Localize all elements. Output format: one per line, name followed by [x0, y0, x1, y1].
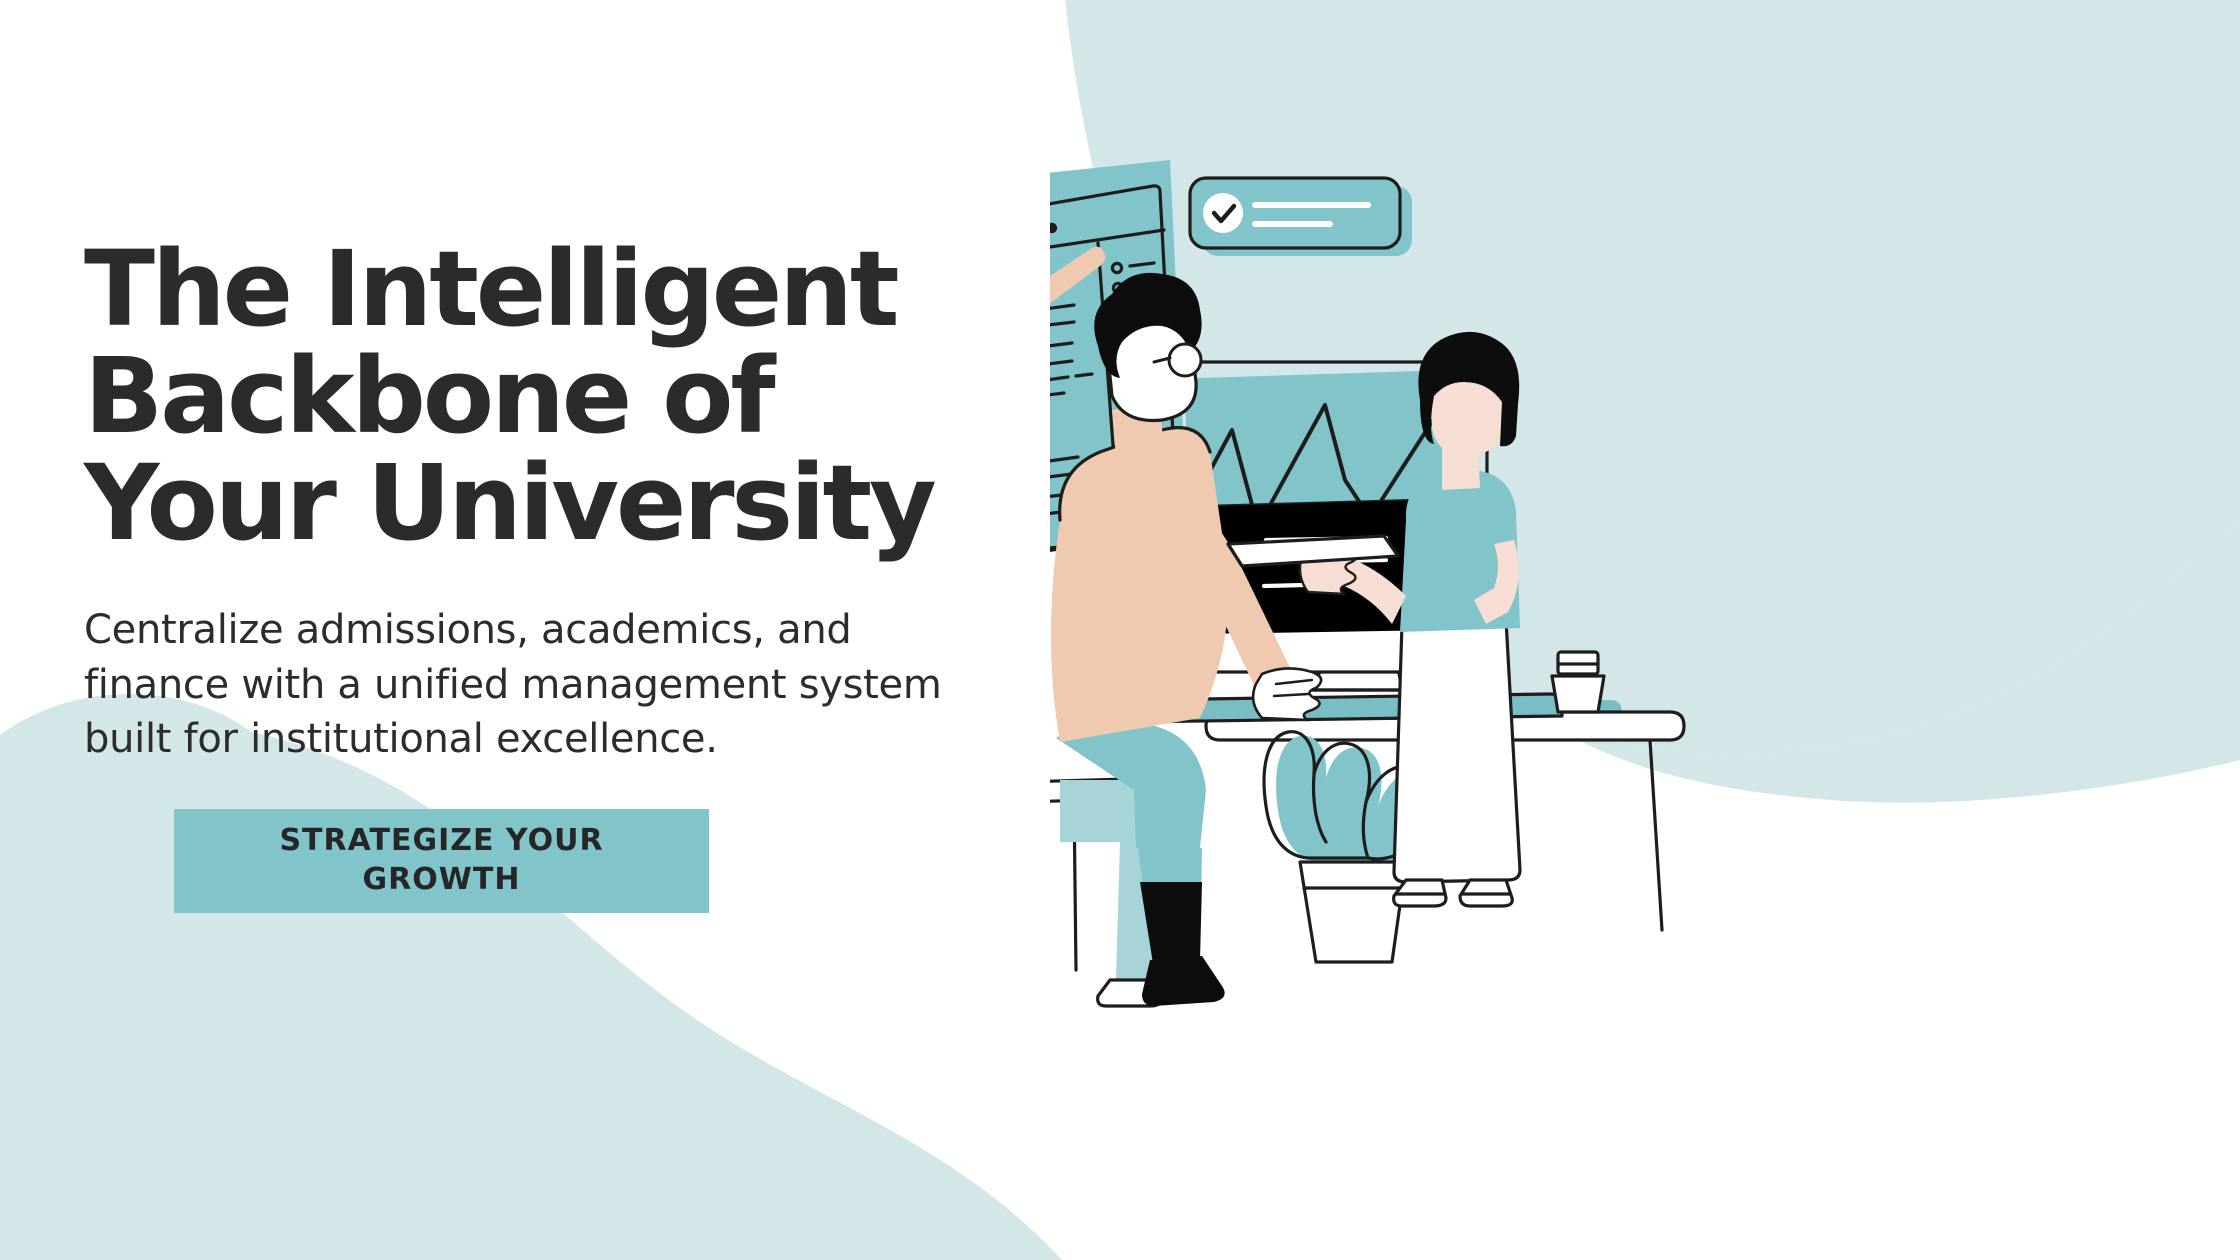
notification-card [1190, 178, 1412, 256]
page-title: The Intelligent Backbone of Your Univers… [84, 236, 1094, 557]
office-team-dashboard-illustration [1050, 0, 2240, 1260]
seated-glasses-icon [1169, 344, 1201, 376]
coffee-cup-body [1552, 676, 1604, 712]
headline-line-1: The Intelligent [84, 228, 896, 350]
headline-line-2: Backbone of [84, 335, 772, 457]
hero-banner: The Intelligent Backbone of Your Univers… [0, 0, 2240, 1260]
desk-leg [1650, 740, 1662, 930]
strategize-your-growth-button[interactable]: Strategize Your Growth [174, 809, 709, 913]
headline-line-3: Your University [84, 442, 934, 564]
hero-subtext: Centralize admissions, academics, and fi… [84, 603, 954, 766]
seated-near-shoe [1142, 956, 1225, 1006]
woman-skirt [1394, 620, 1520, 882]
check-circle-icon [1203, 193, 1243, 233]
cta-button-label: Strategize Your Growth [202, 822, 681, 899]
coffee-cup [1552, 652, 1604, 712]
plant-pot [1300, 862, 1406, 962]
hero-content: The Intelligent Backbone of Your Univers… [84, 236, 1084, 913]
